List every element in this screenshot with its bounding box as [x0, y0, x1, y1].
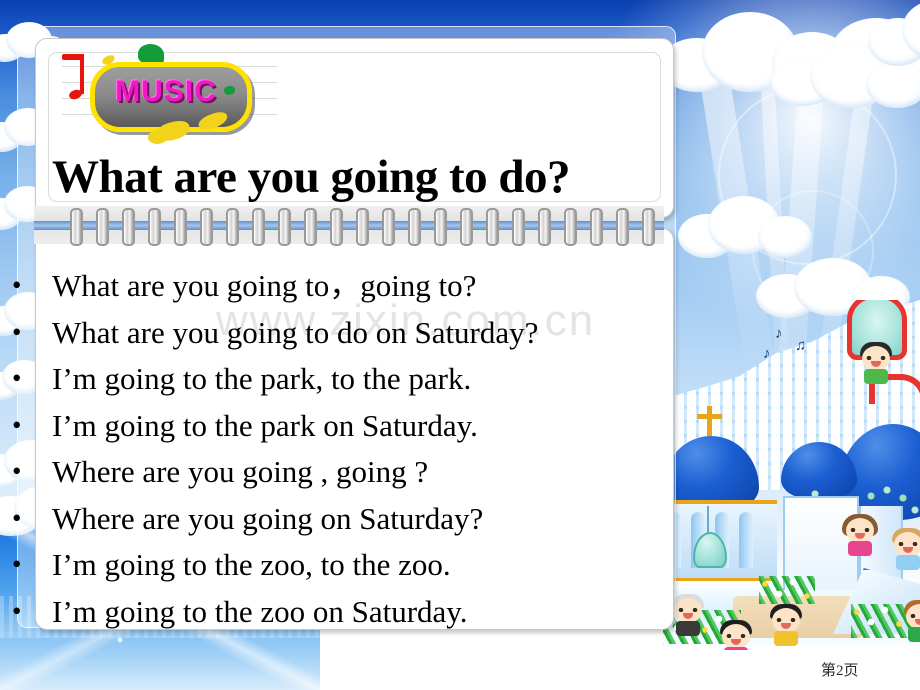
child-character	[843, 514, 877, 558]
list-item: I’m going to the zoo on Saturday.	[8, 589, 680, 636]
music-clipart: MUSIC	[52, 44, 287, 152]
list-item: I’m going to the zoo, to the zoo.	[8, 542, 680, 589]
binding-ring	[382, 208, 395, 246]
binding-ring	[96, 208, 109, 246]
binding-ring	[148, 208, 161, 246]
list-item: What are you going to，going to?	[8, 263, 680, 310]
list-item: What are you going to do on Saturday?	[8, 310, 680, 357]
binding-ring	[538, 208, 551, 246]
binding-ring	[174, 208, 187, 246]
binding-ring	[252, 208, 265, 246]
binding-ring	[590, 208, 603, 246]
music-note-icon: ♪	[763, 346, 771, 363]
red-eighth-note-icon	[58, 54, 86, 98]
binding-ring	[434, 208, 447, 246]
child-character	[903, 600, 920, 644]
music-note-icon: ♪	[775, 326, 783, 343]
yellow-note-blob	[148, 130, 168, 144]
binding-ring	[564, 208, 577, 246]
binding-ring	[122, 208, 135, 246]
slide-title: What are you going to do?	[52, 146, 652, 209]
greek-town-illustration: ♪ ♫ ♪	[663, 300, 920, 650]
music-note-icon: ♫	[795, 338, 806, 355]
binding-ring	[486, 208, 499, 246]
music-word-label: MUSIC	[95, 67, 237, 117]
child-character	[769, 604, 803, 648]
binding-ring	[460, 208, 473, 246]
binding-ring	[616, 208, 629, 246]
spiral-binding	[34, 206, 664, 244]
child-character	[859, 342, 893, 386]
bell-rope	[707, 506, 709, 534]
cross-icon	[697, 414, 722, 419]
green-note-blob	[138, 44, 164, 64]
binding-ring	[278, 208, 291, 246]
binding-ring	[408, 208, 421, 246]
list-item: Where are you going , going ?	[8, 449, 680, 496]
binding-ring	[356, 208, 369, 246]
binding-ring	[642, 208, 655, 246]
flower-bush	[759, 576, 815, 604]
child-character	[891, 528, 920, 572]
page-number: 第2页	[821, 659, 859, 680]
bullet-list: What are you going to，going to? What are…	[8, 263, 680, 635]
slide-canvas: ♪ ♫ ♪	[0, 0, 920, 690]
binding-ring	[304, 208, 317, 246]
list-item: Where are you going on Saturday?	[8, 496, 680, 543]
binding-ring	[330, 208, 343, 246]
list-item: I’m going to the park on Saturday.	[8, 403, 680, 450]
list-item: I’m going to the park, to the park.	[8, 356, 680, 403]
binding-ring	[70, 208, 83, 246]
binding-ring	[200, 208, 213, 246]
binding-ring	[226, 208, 239, 246]
child-character	[719, 620, 753, 650]
binding-ring	[512, 208, 525, 246]
cross-icon	[707, 406, 712, 436]
